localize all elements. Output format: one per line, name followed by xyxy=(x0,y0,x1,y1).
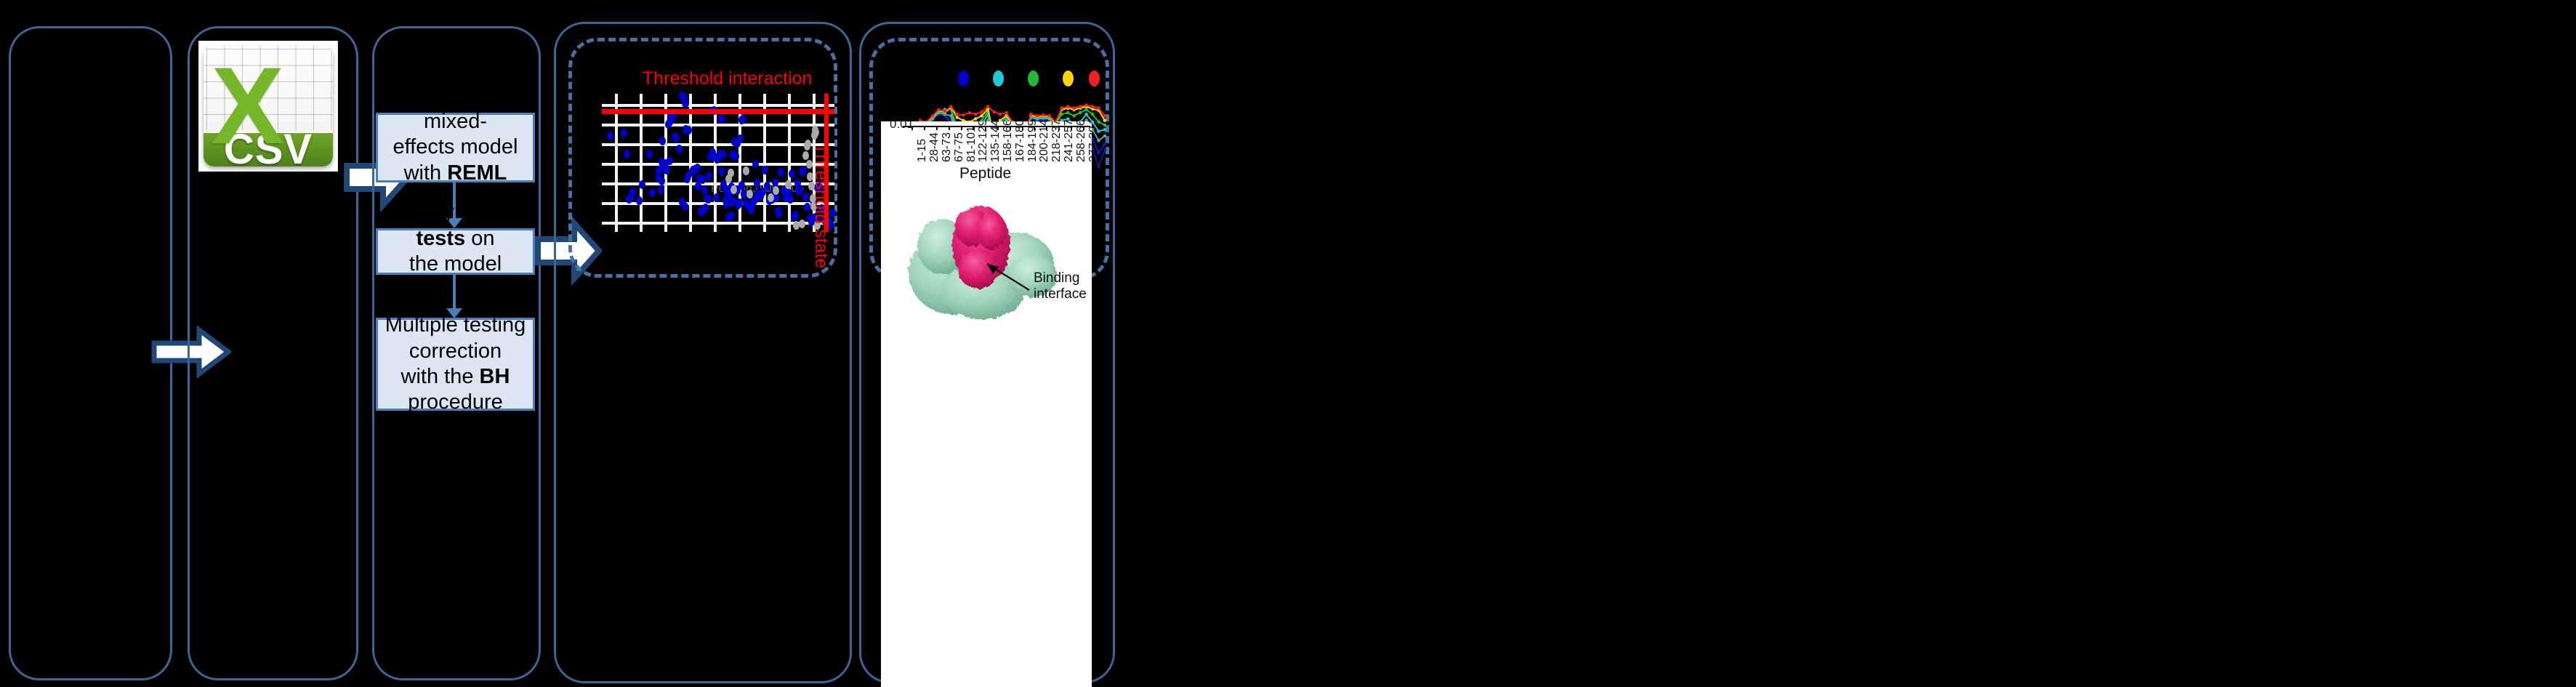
volcano-grid-area: Position.0.05 0.05 xyxy=(602,94,834,232)
peptide-series-marker xyxy=(1084,108,1088,112)
peptide-series-marker xyxy=(967,111,971,115)
peptide-series-marker xyxy=(1066,111,1070,115)
threshold-interaction-line xyxy=(602,109,834,114)
x-tick-label: 158-166 xyxy=(1002,121,1015,162)
legend-dot-red xyxy=(1089,71,1100,87)
peptide-series-marker xyxy=(1103,124,1107,127)
peptide-series-marker xyxy=(1103,114,1107,118)
volcano-point xyxy=(685,126,692,134)
peptide-series-marker xyxy=(1103,148,1107,152)
volcano-point xyxy=(719,167,725,176)
volcano-point-layer xyxy=(602,94,834,232)
excel-x-letter: X xyxy=(212,51,271,111)
peptide-series-marker xyxy=(986,105,990,108)
volcano-point xyxy=(607,132,613,140)
binding-interface-label-line2: interface xyxy=(1034,286,1087,302)
volcano-point xyxy=(658,185,664,194)
peptide-series-marker xyxy=(956,116,959,119)
csv-card: X CSV xyxy=(204,46,333,166)
peptide-series-marker xyxy=(1066,117,1070,121)
peptide-series-marker xyxy=(1048,114,1052,118)
csv-file-icon: X CSV xyxy=(199,41,337,171)
volcano-plot: Threshold interaction Position.0.05 0.05… xyxy=(596,69,836,236)
volcano-point xyxy=(706,172,712,180)
volcano-point xyxy=(778,168,784,177)
peptide-series-marker xyxy=(937,108,941,112)
x-tick-label: 67-75 xyxy=(953,132,966,162)
legend-dot-yellow xyxy=(1063,71,1074,87)
volcano-point xyxy=(723,196,729,205)
volcano-point xyxy=(776,209,782,218)
peptide-series-marker xyxy=(974,113,978,116)
volcano-point xyxy=(699,175,706,184)
x-tick-label: 184-199 xyxy=(1026,121,1039,162)
peptide-series-marker xyxy=(1005,111,1008,115)
peptide-series-marker xyxy=(1084,113,1088,116)
volcano-point xyxy=(676,145,683,153)
volcano-point xyxy=(740,115,746,124)
peptide-series-marker xyxy=(931,114,935,118)
volcano-point xyxy=(743,166,749,175)
volcano-point xyxy=(639,180,645,189)
volcano-point xyxy=(785,180,792,189)
peptide-series-marker xyxy=(1097,121,1100,124)
step-box-reml: Fit a linear mixed-effects model with RE… xyxy=(376,113,535,182)
volcano-point xyxy=(736,198,743,207)
peptide-series-marker xyxy=(962,113,965,117)
binding-interface-label-line1: Binding xyxy=(1034,270,1079,286)
volcano-point xyxy=(752,160,759,169)
peptide-series-marker xyxy=(956,113,959,116)
x-tick-label: 200-214 xyxy=(1038,121,1051,162)
peptide-series-marker xyxy=(1103,134,1107,138)
peptide-series-marker xyxy=(1097,129,1100,133)
peptide-series-marker xyxy=(1060,106,1063,110)
x-tick-label: 28-44 xyxy=(928,132,941,162)
peptide-series-marker xyxy=(1084,103,1088,107)
volcano-point xyxy=(787,195,794,204)
volcano-point xyxy=(629,188,636,196)
peptide-series-marker xyxy=(1079,105,1082,108)
legend-dot-cyan xyxy=(993,71,1004,87)
peptide-series-marker xyxy=(1042,113,1045,117)
volcano-point xyxy=(694,164,701,172)
volcano-point xyxy=(621,129,627,137)
volcano-point xyxy=(772,178,778,187)
volcano-point xyxy=(728,212,735,220)
peptide-series-marker xyxy=(1036,114,1039,118)
x-tick-label: 63-73 xyxy=(941,132,954,162)
volcano-point xyxy=(754,179,760,188)
volcano-point xyxy=(738,181,745,190)
volcano-point xyxy=(802,193,809,201)
peptide-series-marker xyxy=(1072,106,1076,110)
volcano-point xyxy=(702,204,709,212)
volcano-point xyxy=(673,134,680,142)
x-tick-label: 1-15 xyxy=(916,139,929,162)
volcano-point xyxy=(624,150,630,158)
peptide-series-marker xyxy=(1103,128,1107,132)
x-tick-label: 81-101 xyxy=(965,126,978,162)
x-tick-label: 258-266 xyxy=(1075,121,1088,162)
volcano-point xyxy=(682,202,688,211)
peptide-series-marker xyxy=(1091,105,1095,108)
volcano-point xyxy=(713,193,720,202)
step-box-bh-text: Multiple testingcorrectionwith the BH pr… xyxy=(384,313,527,416)
peptide-series-marker xyxy=(1097,106,1100,110)
volcano-point xyxy=(804,203,810,212)
volcano-point xyxy=(746,190,753,198)
volcano-point xyxy=(659,158,665,166)
x-tick-label: 241-257 xyxy=(1063,121,1076,162)
x-tick-label: 277-284 xyxy=(1087,121,1092,162)
peptide-series-marker xyxy=(992,111,996,114)
volcano-point xyxy=(733,152,739,161)
structure-inset: 0.01 1-1528-4463-7367-7581-101122-129135… xyxy=(881,121,1092,687)
volcano-point xyxy=(789,169,795,178)
volcano-point xyxy=(656,166,662,174)
volcano-point xyxy=(792,211,799,220)
peptide-series-marker xyxy=(1072,114,1076,118)
peptide-series-marker xyxy=(1029,113,1033,116)
peptide-series-marker xyxy=(980,111,983,114)
peptide-series-marker xyxy=(1079,111,1082,115)
volcano-point xyxy=(636,196,643,205)
threshold-state-label: Threshold state xyxy=(810,143,832,268)
volcano-point xyxy=(659,177,665,185)
volcano-point xyxy=(764,182,770,190)
x-tick-label: 167-180 xyxy=(1014,121,1027,162)
peptide-series-marker xyxy=(949,105,953,108)
x-axis-title: Peptide xyxy=(959,165,1011,182)
peptide-series-marker xyxy=(1103,142,1107,145)
x-tick-label: 122-129 xyxy=(977,121,990,162)
volcano-point xyxy=(719,115,725,124)
volcano-point xyxy=(797,186,803,195)
volcano-point xyxy=(659,137,666,145)
volcano-point xyxy=(649,188,656,197)
peptide-series-marker xyxy=(1091,113,1095,116)
volcano-point xyxy=(773,193,780,202)
peptide-series-marker xyxy=(1097,139,1100,142)
x-tick-label: 135-144 xyxy=(989,121,1002,162)
peptide-series-marker xyxy=(943,110,947,113)
legend-dot-blue xyxy=(958,71,969,87)
connector-wald-to-bh xyxy=(453,275,456,313)
legend-dot-green xyxy=(1028,71,1039,87)
input-panel xyxy=(9,26,172,680)
volcano-point xyxy=(728,169,734,177)
peptide-series-marker xyxy=(980,114,983,118)
volcano-point xyxy=(737,134,744,143)
volcano-point xyxy=(646,150,653,158)
peptide-series-marker xyxy=(1103,118,1107,122)
volcano-point xyxy=(802,151,809,160)
threshold-interaction-label: Threshold interaction xyxy=(643,68,812,89)
peptide-series-marker xyxy=(1066,105,1070,108)
peptide-series-marker xyxy=(999,113,1002,116)
volcano-point xyxy=(705,195,712,204)
volcano-point xyxy=(701,185,708,194)
volcano-point xyxy=(799,220,805,228)
peptide-series-marker xyxy=(974,117,978,121)
volcano-point xyxy=(664,166,670,174)
step-box-bh: Multiple testingcorrectionwith the BH pr… xyxy=(376,318,535,411)
step-box-wald-real: Apply Wald tests onthe model parameters xyxy=(376,228,535,275)
peptide-series-marker xyxy=(1097,151,1100,155)
peptide-series-marker xyxy=(1097,165,1100,169)
volcano-point xyxy=(800,166,807,175)
volcano-point xyxy=(667,156,673,165)
volcano-point xyxy=(730,185,737,194)
volcano-point xyxy=(720,150,726,158)
protein-structure-image xyxy=(897,194,1075,329)
volcano-point xyxy=(762,166,768,174)
volcano-point xyxy=(813,128,819,137)
x-tick-label: 218-237 xyxy=(1050,121,1063,162)
